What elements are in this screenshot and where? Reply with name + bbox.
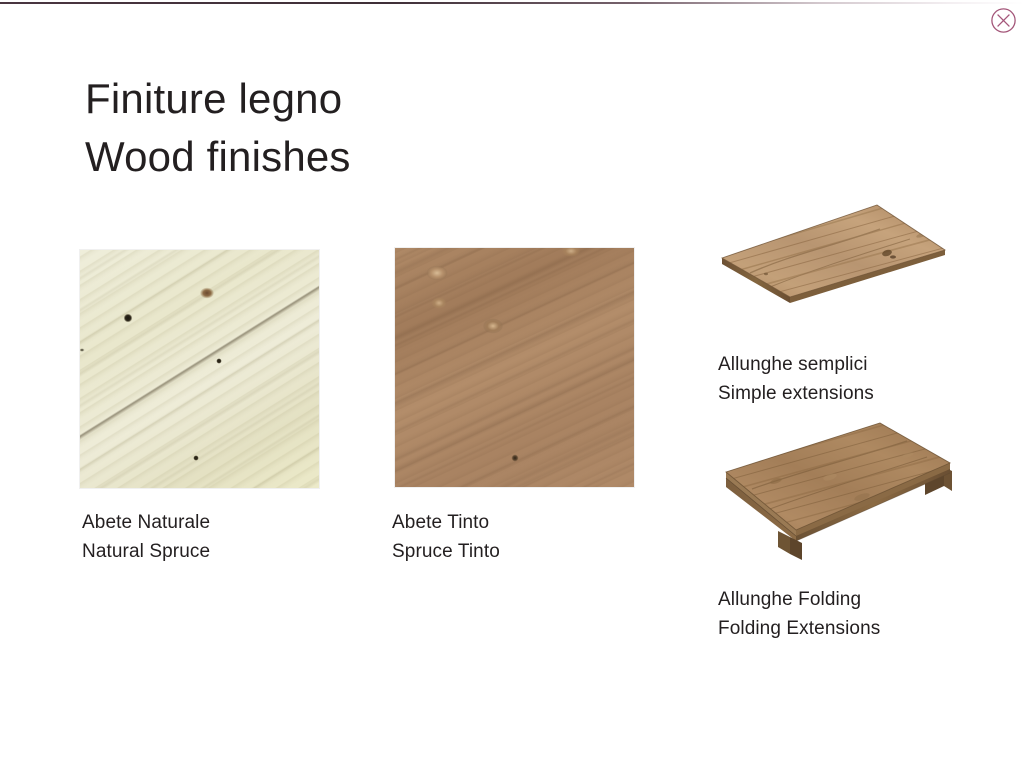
- caption-spruce-tinto: Abete Tinto Spruce Tinto: [392, 508, 500, 566]
- panel-render-simple-extension[interactable]: [710, 195, 960, 310]
- close-icon[interactable]: Close: [990, 7, 1017, 34]
- caption-italian: Abete Tinto: [392, 508, 500, 537]
- top-divider-rule: [0, 2, 1024, 4]
- caption-simple-extensions: Allunghe semplici Simple extensions: [718, 350, 874, 408]
- caption-folding-extensions: Allunghe Folding Folding Extensions: [718, 585, 880, 643]
- caption-italian: Abete Naturale: [82, 508, 210, 537]
- wood-swatch-natural-spruce[interactable]: [80, 250, 319, 488]
- page-title-italian: Finiture legno: [85, 70, 685, 128]
- caption-natural-spruce: Abete Naturale Natural Spruce: [82, 508, 210, 566]
- page-title: Finiture legno Wood finishes: [85, 70, 685, 186]
- wood-swatch-spruce-tinto[interactable]: [395, 248, 634, 487]
- caption-english: Folding Extensions: [718, 614, 880, 643]
- caption-italian: Allunghe semplici: [718, 350, 874, 379]
- caption-english: Simple extensions: [718, 379, 874, 408]
- close-button-label: Close: [990, 34, 991, 35]
- caption-english: Natural Spruce: [82, 537, 210, 566]
- caption-english: Spruce Tinto: [392, 537, 500, 566]
- caption-italian: Allunghe Folding: [718, 585, 880, 614]
- panel-render-folding-extension[interactable]: [712, 415, 967, 575]
- page-title-english: Wood finishes: [85, 128, 685, 186]
